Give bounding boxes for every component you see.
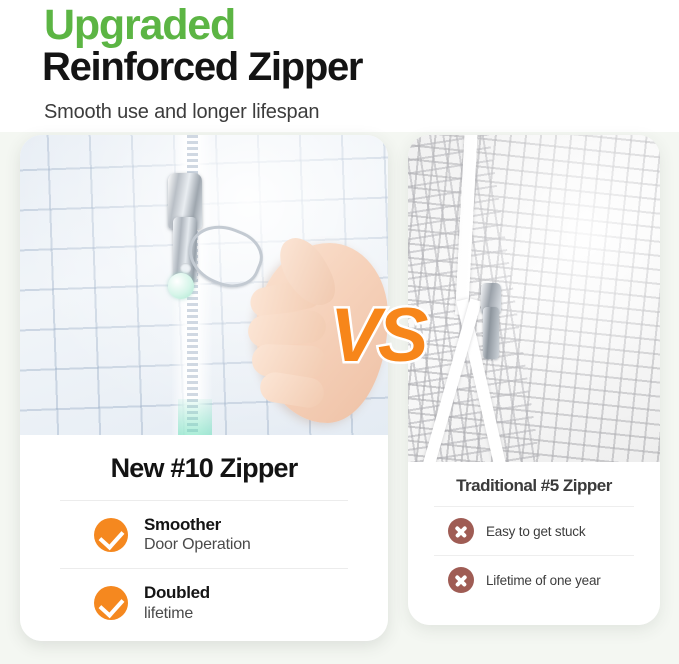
zipper-slider-small (478, 283, 504, 361)
hand-finger (251, 344, 326, 379)
new-zipper-card: New #10 Zipper Smoother Door Operation D… (20, 435, 388, 641)
mint-highlight-dot (168, 273, 194, 299)
feature-text: Smoother Door Operation (144, 514, 251, 555)
page-title: Reinforced Zipper (42, 44, 362, 90)
traditional-zipper-photo (408, 135, 660, 462)
down-arrow-icon (148, 399, 242, 435)
headline-eyebrow: Upgraded (44, 2, 235, 48)
feature-text: Doubled lifetime (144, 582, 210, 623)
infographic-page: Upgraded Reinforced Zipper Smooth use an… (0, 0, 679, 664)
arrow-shaft (178, 399, 212, 435)
feature-text: Easy to get stuck (486, 524, 585, 539)
check-circle-icon (94, 518, 128, 552)
traditional-zipper-card: Traditional #5 Zipper Easy to get stuck … (408, 462, 660, 625)
feature-title: Smoother (144, 514, 251, 535)
check-circle-icon (94, 586, 128, 620)
feature-subtitle: lifetime (144, 604, 210, 624)
feature-text: Lifetime of one year (486, 573, 601, 588)
slider-pull-tab (483, 307, 499, 359)
versus-badge: VS (330, 298, 425, 374)
traditional-zipper-title: Traditional #5 Zipper (426, 476, 642, 496)
list-item: Easy to get stuck (426, 507, 642, 555)
new-zipper-photo (20, 135, 388, 435)
feature-title: Doubled (144, 582, 210, 603)
traditional-zipper-panel: Traditional #5 Zipper Easy to get stuck … (408, 135, 660, 625)
page-subtitle: Smooth use and longer lifespan (44, 100, 319, 124)
list-item: Smoother Door Operation (46, 501, 362, 568)
list-item: Doubled lifetime (46, 569, 362, 636)
x-circle-icon (448, 567, 474, 593)
list-item: Lifetime of one year (426, 556, 642, 604)
header-block: Upgraded Reinforced Zipper Smooth use an… (0, 0, 679, 132)
feature-subtitle: Door Operation (144, 535, 251, 555)
new-zipper-title: New #10 Zipper (46, 453, 362, 484)
new-zipper-panel: New #10 Zipper Smoother Door Operation D… (20, 135, 388, 641)
x-circle-icon (448, 518, 474, 544)
